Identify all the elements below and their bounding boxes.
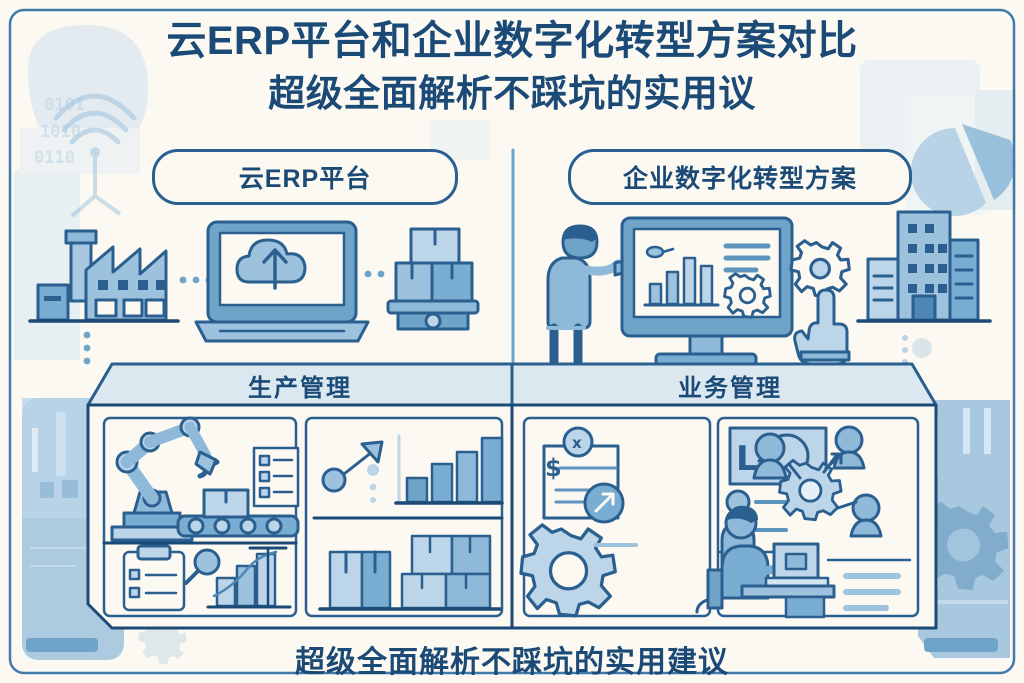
band-label-production: 生产管理: [130, 368, 470, 403]
page-title-line2: 超级全面解析不踩坑的实用议: [0, 72, 1024, 116]
office-buildings-icon: [858, 212, 990, 321]
gear-icon: [791, 241, 849, 297]
factory-icon: [30, 231, 178, 321]
svg-text:x: x: [572, 434, 582, 452]
avatar-2: [834, 427, 864, 468]
footer-caption: 超级全面解析不踩坑的实用建议: [0, 637, 1024, 681]
dollar-icon: $: [545, 454, 562, 482]
laptop-cloud-upload-icon: [196, 222, 368, 341]
pallet-boxes-icon: [388, 229, 478, 329]
connector-dots: [365, 271, 385, 278]
gear-icon: [780, 460, 842, 519]
pointing-hand-icon: [795, 290, 849, 364]
infographic-canvas: 0101 1010 0110: [0, 0, 1024, 683]
checklist-document-icon: [254, 448, 298, 506]
presenter-person-icon: [540, 226, 627, 364]
band-label-business: 业务管理: [560, 368, 900, 403]
clipboard-icon: [124, 546, 184, 610]
decor-dots: [902, 335, 932, 365]
section-pill-digital-transformation[interactable]: 企业数字化转型方案: [568, 149, 912, 205]
monitor-dashboard-icon: [622, 218, 792, 365]
gear-icon: [521, 525, 615, 616]
gear-icon: [725, 274, 771, 318]
avatar-1: [754, 434, 786, 478]
page-title-line1: 云ERP平台和企业数字化转型方案对比: [0, 18, 1024, 64]
section-pill-cloud-erp[interactable]: 云ERP平台: [152, 149, 458, 205]
